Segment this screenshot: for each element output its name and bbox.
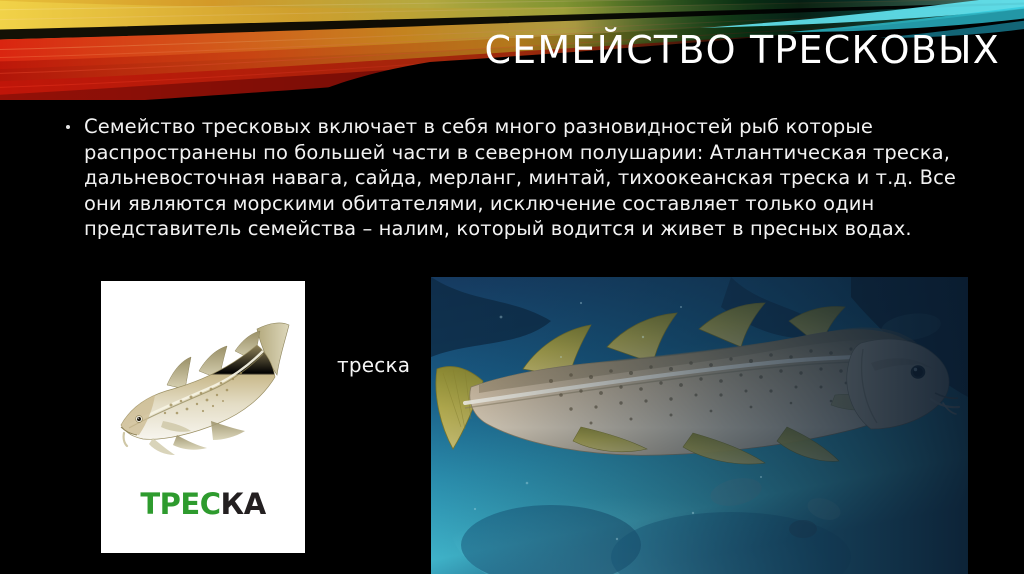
presentation-slide: СЕМЕЙСТВО ТРЕСКОВЫХ Семейство тресковых … [0,0,1024,574]
slide-title: СЕМЕЙСТВО ТРЕСКОВЫХ [0,27,1000,73]
bullet-point-icon [66,114,84,129]
card-label: ТРЕСКА [101,487,305,521]
image-caption: треска [337,352,410,378]
bullet-item: Семейство тресковых включает в себя мног… [66,114,956,242]
cod-illustration-card: ТРЕСКА [101,281,305,553]
cod-illustration [107,301,299,471]
bullet-paragraph: Семейство тресковых включает в себя мног… [84,114,956,242]
card-label-dark: КА [220,487,265,521]
atlantic-cod-underwater-photo [431,277,968,574]
body-text-block: Семейство тресковых включает в себя мног… [66,114,956,242]
card-label-green: ТРЕС [140,487,220,521]
